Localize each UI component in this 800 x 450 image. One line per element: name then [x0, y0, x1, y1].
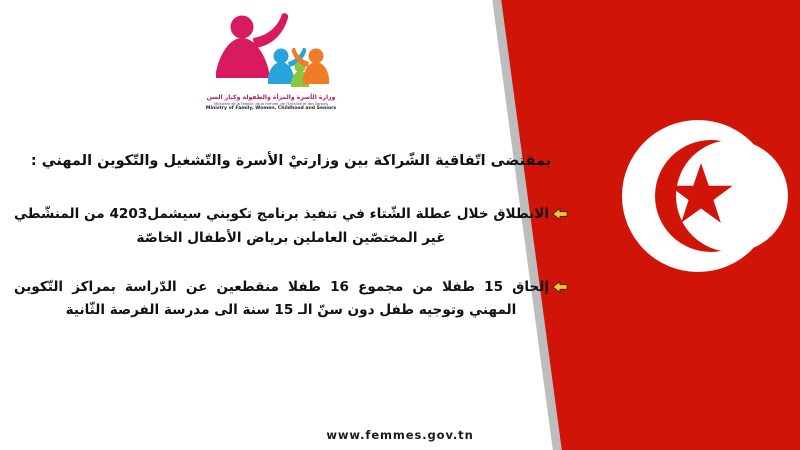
- pointing-hand-icon: [551, 280, 568, 294]
- bullet-item-2-text: إلحاق 15 طفلا من مجموع 16 طفلا منقطعين ع…: [14, 279, 549, 318]
- bullet-item-1: الانطلاق خلال عطلة الشّتاء في تنفيذ برنا…: [14, 203, 568, 250]
- announcement-content: بمقتضى اتّفاقية الشّراكة بين وزارتيْ الأ…: [14, 150, 568, 323]
- bullet-item-2: إلحاق 15 طفلا من مجموع 16 طفلا منقطعين ع…: [14, 276, 568, 323]
- ministry-logo-mark: [209, 10, 333, 94]
- ministry-logo: وزارة الأسرة والمرأة والطفولة وكبار السن…: [196, 10, 346, 112]
- bullet-item-1-text: الانطلاق خلال عطلة الشّتاء في تنفيذ برنا…: [14, 206, 549, 245]
- pointing-hand-icon: [551, 207, 568, 221]
- announcement-heading: بمقتضى اتّفاقية الشّراكة بين وزارتيْ الأ…: [14, 150, 568, 173]
- announcement-slide: وزارة الأسرة والمرأة والطفولة وكبار السن…: [0, 0, 800, 450]
- logo-arabic-name: وزارة الأسرة والمرأة والطفولة وكبار السن: [196, 94, 346, 102]
- logo-english-name: Ministry of Family, Women, Childhood and…: [196, 106, 346, 112]
- footer-website-url[interactable]: www.femmes.gov.tn: [0, 428, 800, 442]
